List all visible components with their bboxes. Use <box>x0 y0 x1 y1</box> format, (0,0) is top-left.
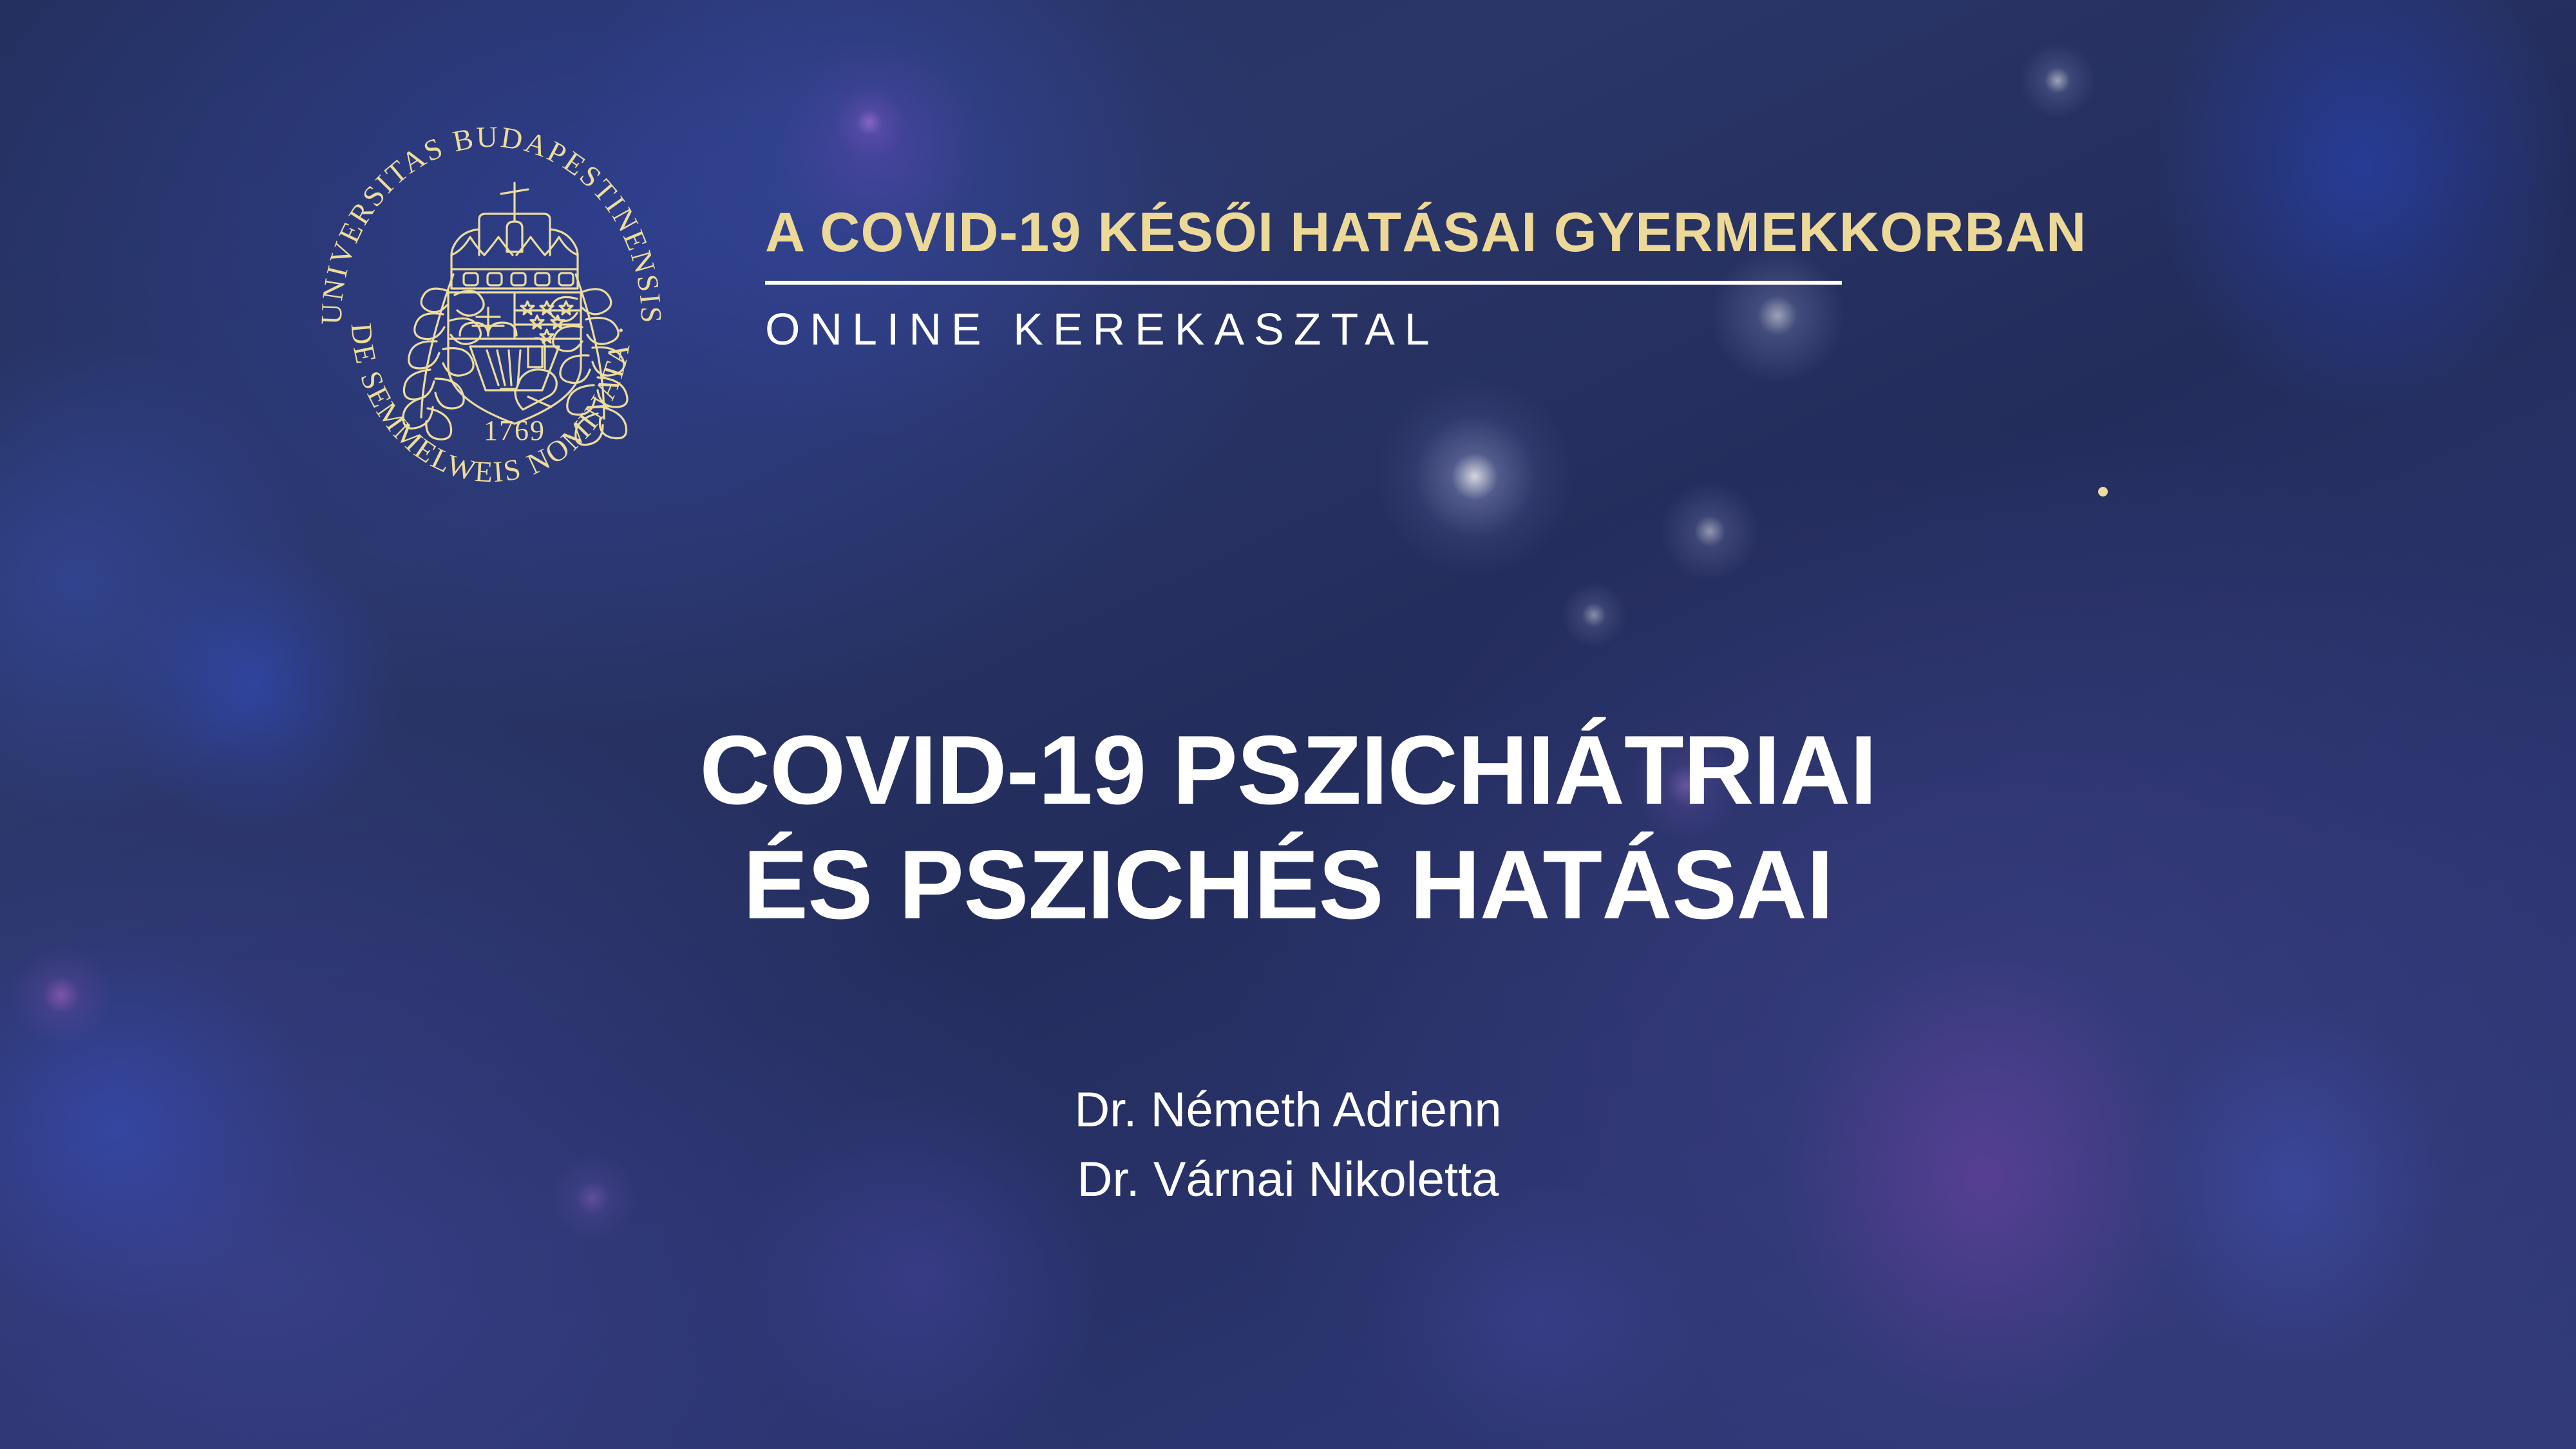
presenter-list: Dr. Németh Adrienn Dr. Várnai Nikoletta <box>0 1075 2576 1215</box>
event-title: A COVID-19 KÉSŐI HATÁSAI GYERMEKKORBAN <box>765 205 1847 260</box>
presentation-slide: UNIVERSITAS BUDAPESTINENSIS DE SEMMELWEI… <box>0 0 2576 1449</box>
presenter-name: Dr. Várnai Nikoletta <box>0 1145 2576 1215</box>
presenter-name: Dr. Németh Adrienn <box>0 1075 2576 1145</box>
seal-ring-text-top: UNIVERSITAS BUDAPESTINENSIS <box>315 126 668 325</box>
seal-crown <box>451 214 578 289</box>
header-block: A COVID-19 KÉSŐI HATÁSAI GYERMEKKORBAN O… <box>765 205 1847 352</box>
event-subtitle: ONLINE KEREKASZTAL <box>765 307 1847 352</box>
seal-shield <box>448 292 581 424</box>
main-title-line-2: ÉS PSZICHÉS HATÁSAI <box>0 828 2576 943</box>
svg-text:UNIVERSITAS BUDAPESTINENSIS: UNIVERSITAS BUDAPESTINENSIS <box>315 126 668 325</box>
header-divider <box>765 281 1842 285</box>
university-seal-logo: UNIVERSITAS BUDAPESTINENSIS DE SEMMELWEI… <box>301 126 681 487</box>
decorative-gold-dot <box>2098 487 2108 497</box>
seal-year: 1769 <box>484 415 545 446</box>
main-title-line-1: COVID-19 PSZICHIÁTRIAI <box>0 714 2576 828</box>
main-title: COVID-19 PSZICHIÁTRIAI ÉS PSZICHÉS HATÁS… <box>0 714 2576 943</box>
seal-cross-icon <box>501 183 528 222</box>
seal-oak-branch <box>403 274 484 439</box>
